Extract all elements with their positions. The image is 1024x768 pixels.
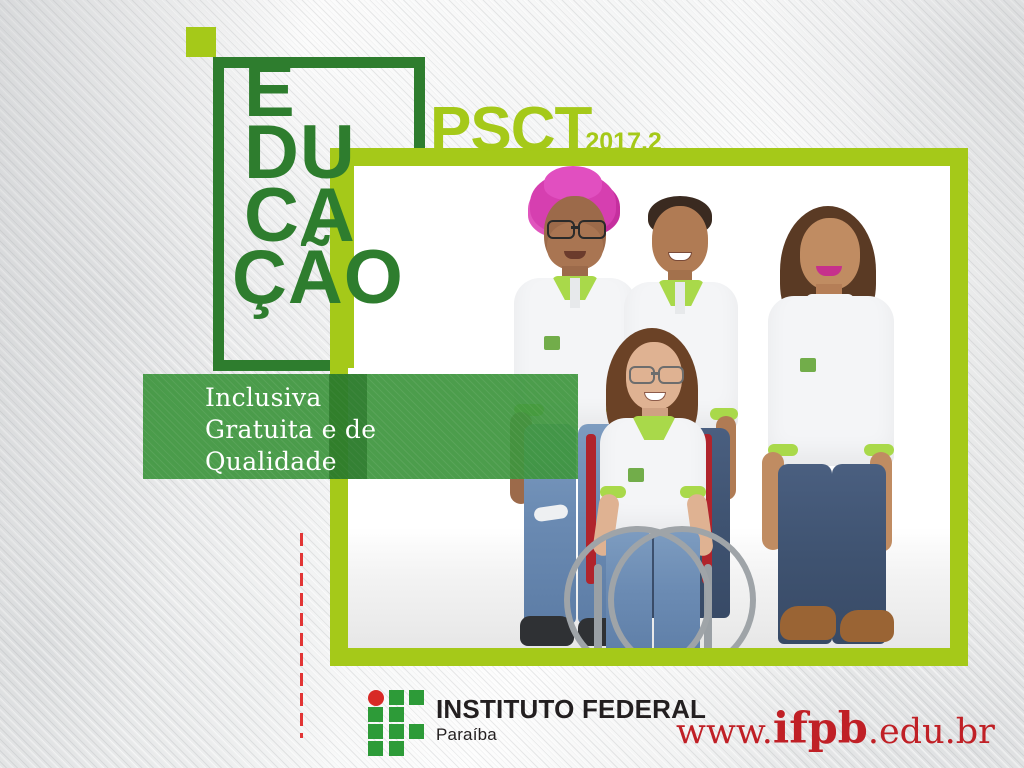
institution-campus: Paraíba xyxy=(436,726,706,744)
ifpb-logo-text: INSTITUTO FEDERAL Paraíba xyxy=(436,696,706,744)
poster-canvas: E DU CA ÇÃO PSCT2017.2 Inclusiva Gratuit… xyxy=(0,0,1024,768)
ifpb-logo: INSTITUTO FEDERAL Paraíba xyxy=(368,690,706,750)
tagline-band: Inclusiva Gratuita e de Qualidade xyxy=(143,374,578,479)
url-suffix: .edu.br xyxy=(868,712,995,752)
tagline-line-1: Inclusiva xyxy=(205,382,376,414)
website-url[interactable]: www.ifpb.edu.br xyxy=(676,704,995,754)
red-dashed-accent-line xyxy=(300,533,303,738)
tagline-line-3: Qualidade xyxy=(205,446,376,478)
institution-name: INSTITUTO FEDERAL xyxy=(436,696,706,723)
program-name: PSCT xyxy=(430,95,591,164)
program-title-group: PSCT2017.2 xyxy=(430,99,662,161)
headline-line-4: ÇÃO xyxy=(232,247,482,309)
program-year: 2017.2 xyxy=(585,128,661,156)
tagline-text: Inclusiva Gratuita e de Qualidade xyxy=(205,382,376,478)
url-prefix: www. xyxy=(676,712,773,752)
url-brand: ifpb xyxy=(773,704,868,754)
if-logo-mark-icon xyxy=(368,690,424,750)
decorative-square-accent xyxy=(186,27,216,57)
tagline-line-2: Gratuita e de xyxy=(205,414,376,446)
